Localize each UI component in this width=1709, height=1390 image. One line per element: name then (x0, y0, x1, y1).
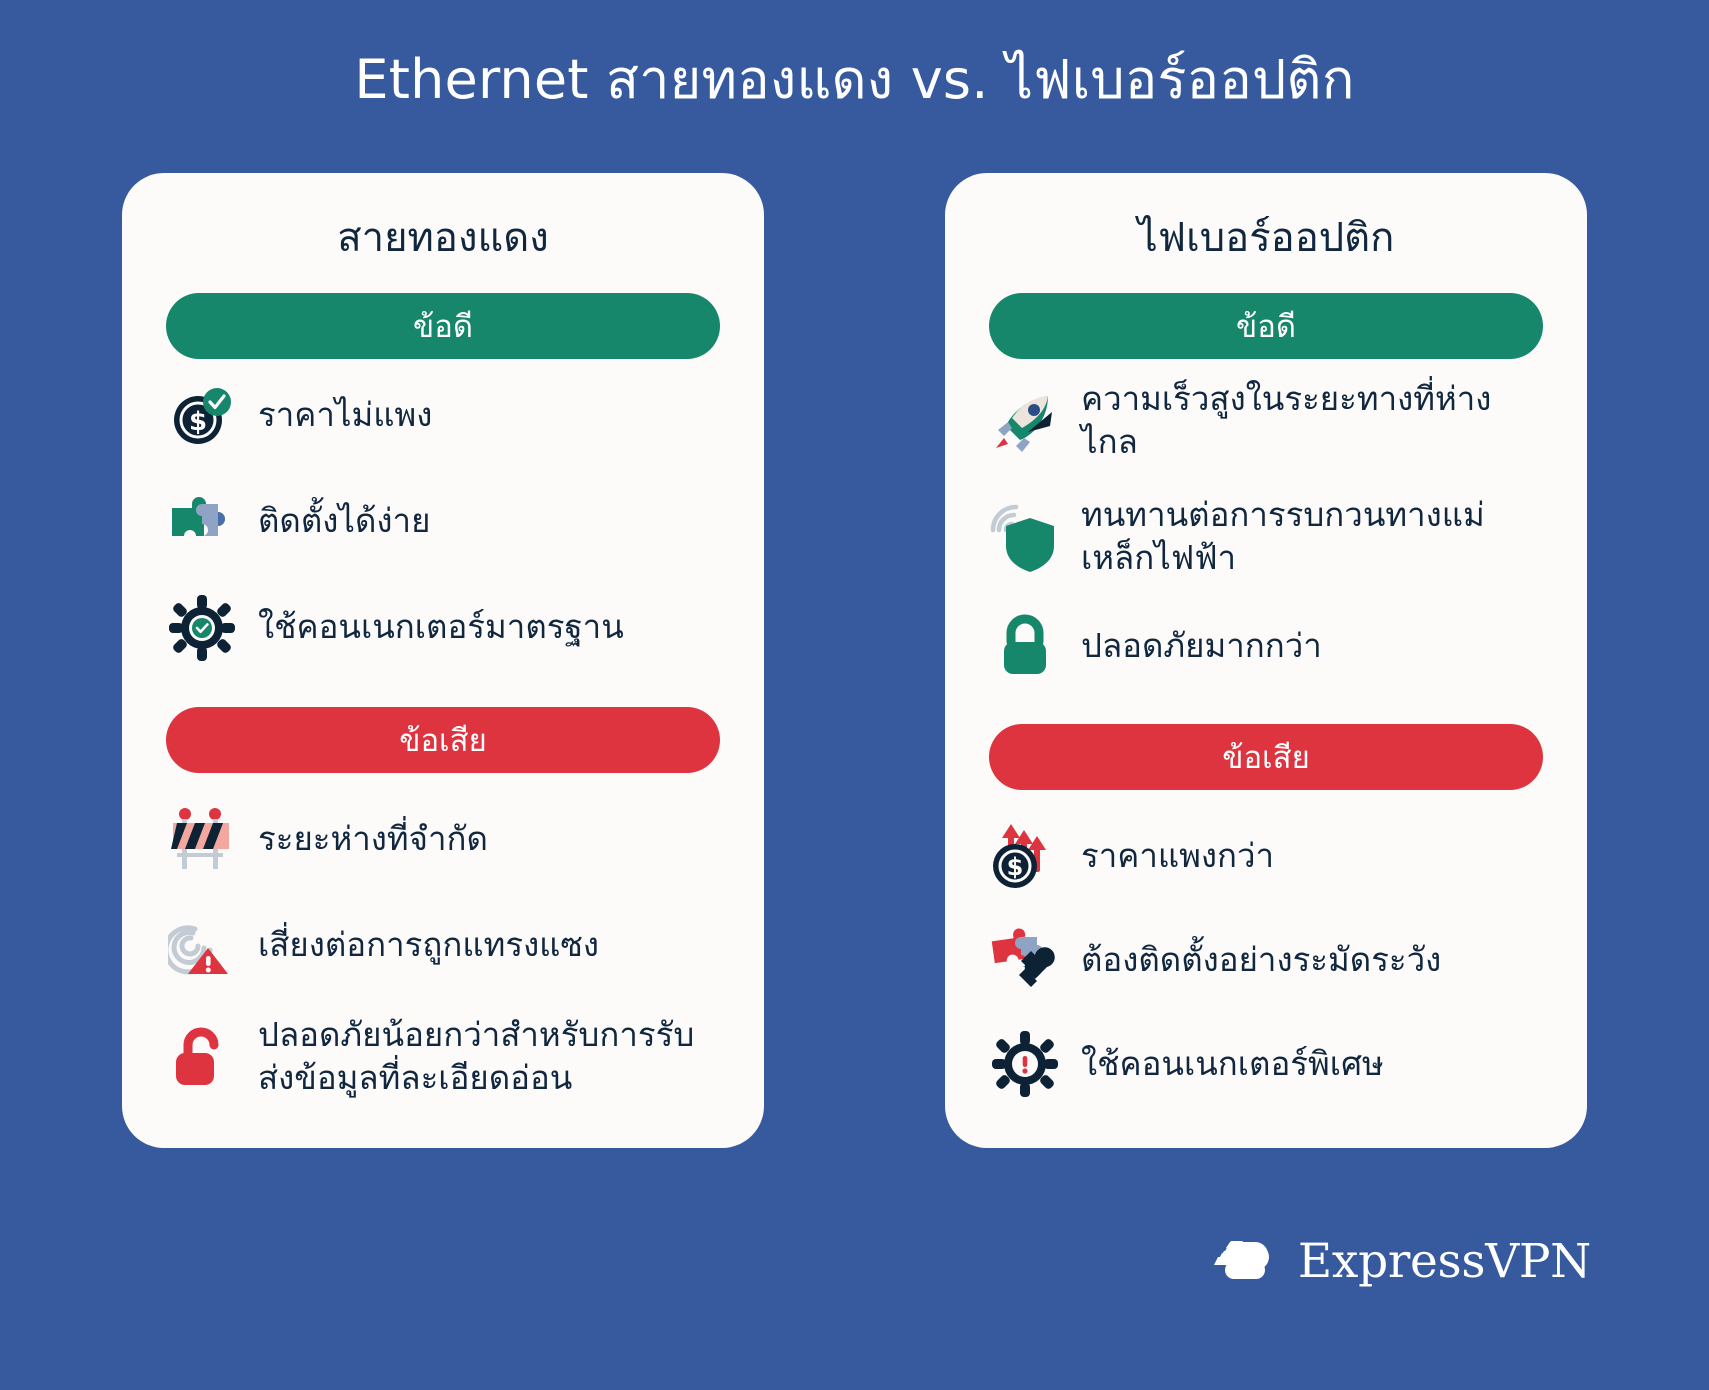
gear-check-icon (166, 592, 238, 664)
list-item-label: ต้องติดตั้งอย่างระมัดระวัง (1081, 939, 1441, 982)
pros-pill-copper: ข้อดี (166, 293, 720, 359)
page-title: Ethernet สายทองแดง vs. ไฟเบอร์ออปติก (0, 48, 1709, 113)
list-item-label: ติดตั้งได้ง่าย (258, 500, 430, 543)
list-item-label: ราคาไม่แพง (258, 394, 432, 437)
list-item: ปลอดภัยมากกว่า (989, 609, 1543, 683)
signal-interference-warning-icon (166, 909, 238, 981)
comparison-cards: สายทองแดง ข้อดี $ ราคาไม่แพง (122, 173, 1587, 1148)
pros-list-copper: $ ราคาไม่แพง ต (166, 359, 720, 683)
gear-warning-icon (989, 1028, 1061, 1100)
expressvpn-logo-icon (1208, 1224, 1282, 1298)
list-item: ปลอดภัยน้อยกว่าสำหรับการรับส่งข้อมูลที่ล… (166, 1014, 720, 1100)
card-copper: สายทองแดง ข้อดี $ ราคาไม่แพง (122, 173, 764, 1148)
infographic-page: Ethernet สายทองแดง vs. ไฟเบอร์ออปติก สาย… (0, 0, 1709, 1390)
list-item-label: ปลอดภัยน้อยกว่าสำหรับการรับส่งข้อมูลที่ล… (258, 1014, 720, 1100)
list-item-label: ความเร็วสูงในระยะทางที่ห่างไกล (1081, 378, 1501, 464)
puzzle-pieces-icon (166, 486, 238, 558)
list-item: ระยะห่างที่จำกัด (166, 803, 720, 877)
pros-pill-fiber: ข้อดี (989, 293, 1543, 359)
list-item: ต้องติดตั้งอย่างระมัดระวัง (989, 923, 1543, 997)
dollar-coin-rising-arrows-icon: $ (989, 820, 1061, 892)
cons-list-copper: ระยะห่างที่จำกัด (166, 773, 720, 1118)
card-title-copper: สายทองแดง (166, 199, 720, 269)
list-item: $ ราคาแพงกว่า (989, 819, 1543, 893)
card-fiber: ไฟเบอร์ออปติก ข้อดี (945, 173, 1587, 1148)
list-item: $ ราคาไม่แพง (166, 379, 720, 453)
dollar-coin-check-icon: $ (166, 380, 238, 452)
cons-list-fiber: $ ราคาแพงกว่า (989, 790, 1543, 1118)
list-item: ใช้คอนเนกเตอร์พิเศษ (989, 1027, 1543, 1101)
unlocked-padlock-icon (166, 1021, 238, 1093)
list-item-label: ระยะห่างที่จำกัด (258, 818, 488, 861)
pros-list-fiber: ความเร็วสูงในระยะทางที่ห่างไกล (989, 359, 1543, 700)
card-title-fiber: ไฟเบอร์ออปติก (989, 199, 1543, 269)
rocket-icon (989, 385, 1061, 457)
list-item-label: ปลอดภัยมากกว่า (1081, 625, 1322, 668)
list-item-label: ราคาแพงกว่า (1081, 835, 1274, 878)
svg-text:$: $ (1007, 853, 1024, 881)
brand-name: ExpressVPN (1298, 1234, 1591, 1289)
cons-pill-fiber: ข้อเสีย (989, 724, 1543, 790)
cons-pill-copper: ข้อเสีย (166, 707, 720, 773)
list-item: เสี่ยงต่อการถูกแทรงแซง (166, 908, 720, 982)
list-item-label: เสี่ยงต่อการถูกแทรงแซง (258, 924, 599, 967)
list-item-label: ใช้คอนเนกเตอร์พิเศษ (1081, 1043, 1384, 1086)
list-item-label: ทนทานต่อการรบกวนทางแม่เหล็กไฟฟ้า (1081, 494, 1501, 580)
road-barrier-icon (166, 804, 238, 876)
list-item-label: ใช้คอนเนกเตอร์มาตรฐาน (258, 606, 624, 649)
locked-padlock-icon (989, 610, 1061, 682)
svg-text:$: $ (189, 407, 207, 437)
puzzle-wrench-icon (989, 924, 1061, 996)
list-item: ติดตั้งได้ง่าย (166, 485, 720, 559)
shield-signal-icon (989, 501, 1061, 573)
list-item: ความเร็วสูงในระยะทางที่ห่างไกล (989, 378, 1543, 464)
expressvpn-logo: ExpressVPN (1208, 1224, 1591, 1298)
list-item: ทนทานต่อการรบกวนทางแม่เหล็กไฟฟ้า (989, 494, 1543, 580)
list-item: ใช้คอนเนกเตอร์มาตรฐาน (166, 591, 720, 665)
